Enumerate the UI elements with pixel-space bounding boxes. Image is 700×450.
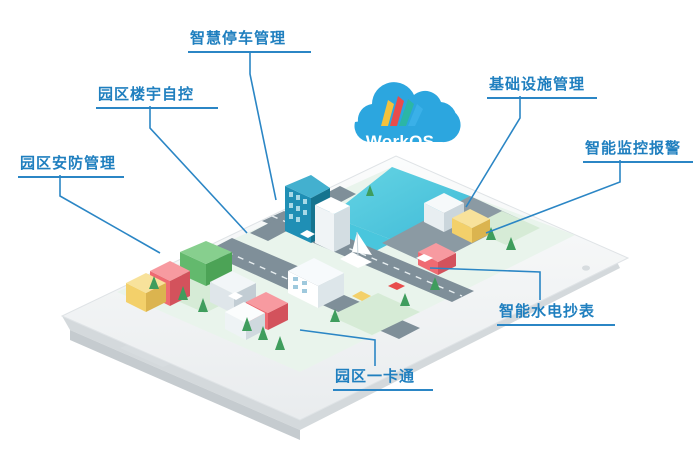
- label-parking[interactable]: 智慧停车管理: [188, 30, 311, 53]
- label-metering[interactable]: 智能水电抄表: [497, 303, 615, 326]
- label-metering-text: 智能水电抄表: [497, 303, 615, 324]
- label-building-underline: [96, 107, 218, 109]
- label-security-underline: [18, 176, 124, 178]
- label-metering-underline: [497, 324, 615, 326]
- label-infrastructure[interactable]: 基础设施管理: [487, 76, 597, 99]
- label-monitoring-underline: [583, 161, 693, 163]
- label-security-text: 园区安防管理: [18, 155, 124, 176]
- label-monitoring-text: 智能监控报警: [583, 140, 693, 161]
- office-tower-white: [315, 197, 350, 252]
- label-infrastructure-text: 基础设施管理: [487, 76, 597, 97]
- label-security[interactable]: 园区安防管理: [18, 155, 124, 178]
- label-onecard-text: 园区一卡通: [333, 368, 433, 389]
- label-parking-text: 智慧停车管理: [188, 30, 311, 51]
- label-parking-underline: [188, 51, 311, 53]
- brand-name: WorkOS: [330, 132, 470, 152]
- label-building[interactable]: 园区楼宇自控: [96, 86, 218, 109]
- brand-logo: WorkOS: [330, 76, 470, 166]
- label-infrastructure-underline: [487, 97, 597, 99]
- label-monitoring[interactable]: 智能监控报警: [583, 140, 693, 163]
- diagram-stage: WorkOS 园区安防管理 园区楼宇自控 智慧停车管理 基础设施管理 智能监控报…: [0, 0, 700, 450]
- label-onecard-underline: [333, 389, 433, 391]
- label-building-text: 园区楼宇自控: [96, 86, 218, 107]
- label-onecard[interactable]: 园区一卡通: [333, 368, 433, 391]
